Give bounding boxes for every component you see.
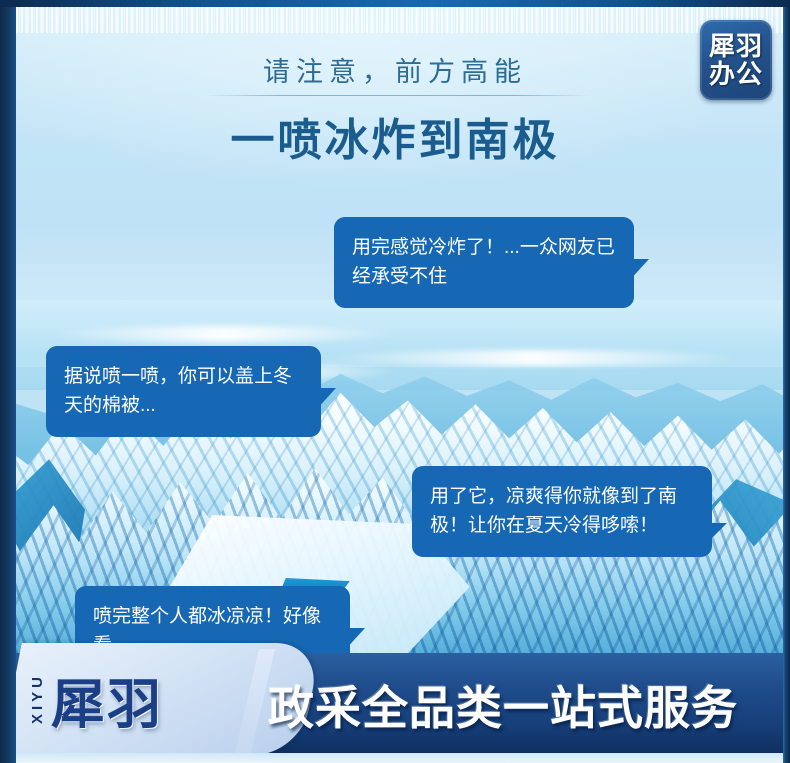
bubble-tail-icon (629, 259, 649, 281)
speech-bubble-3-text: 用了它，凉爽得你就像到了南极！让你在夏天冷得哆嗦！ (430, 486, 677, 536)
cloud-band (323, 350, 745, 366)
page-title: 一喷冰炸到南极 (0, 104, 790, 168)
banner-brand-group: XIYU 犀羽 (0, 643, 290, 755)
speech-bubble-3: 用了它，凉爽得你就像到了南极！让你在夏天冷得哆嗦！ (412, 466, 712, 557)
badge-line-1: 犀羽 (709, 32, 763, 60)
brand-chinese-name: 犀羽 (51, 660, 163, 739)
speech-bubble-2-text: 据说喷一喷，你可以盖上冬天的棉被... (64, 366, 292, 416)
banner-bottom-strip (0, 753, 790, 763)
speech-bubble-1: 用完感觉冷炸了！...一众网友已经承受不住 (334, 217, 634, 308)
badge-line-2: 办公 (709, 60, 763, 88)
speech-bubble-2: 据说喷一喷，你可以盖上冬天的棉被... (46, 346, 321, 437)
poster-subtitle: 请注意，前方高能 (0, 50, 790, 89)
frame-border-top (0, 0, 790, 7)
sky-grain-texture (16, 7, 783, 33)
brand-badge-logo[interactable]: 犀羽 办公 (700, 20, 772, 100)
brand-latin-name: XIYU (30, 673, 45, 724)
frame-border-left (0, 0, 16, 763)
title-divider (205, 95, 590, 96)
banner-slogan: 政采全品类一站式服务 (268, 657, 738, 753)
cloud-band (47, 326, 400, 342)
bubble-tail-icon (707, 523, 727, 543)
bottom-brand-banner: XIYU 犀羽 政采全品类一站式服务 (0, 635, 790, 763)
promo-poster: 请注意，前方高能 一喷冰炸到南极 犀羽 办公 用完感觉冷炸了！...一众网友已经… (0, 0, 790, 763)
frame-border-right (783, 0, 790, 763)
bubble-tail-icon (316, 388, 336, 410)
speech-bubble-1-text: 用完感觉冷炸了！...一众网友已经承受不住 (352, 237, 615, 287)
